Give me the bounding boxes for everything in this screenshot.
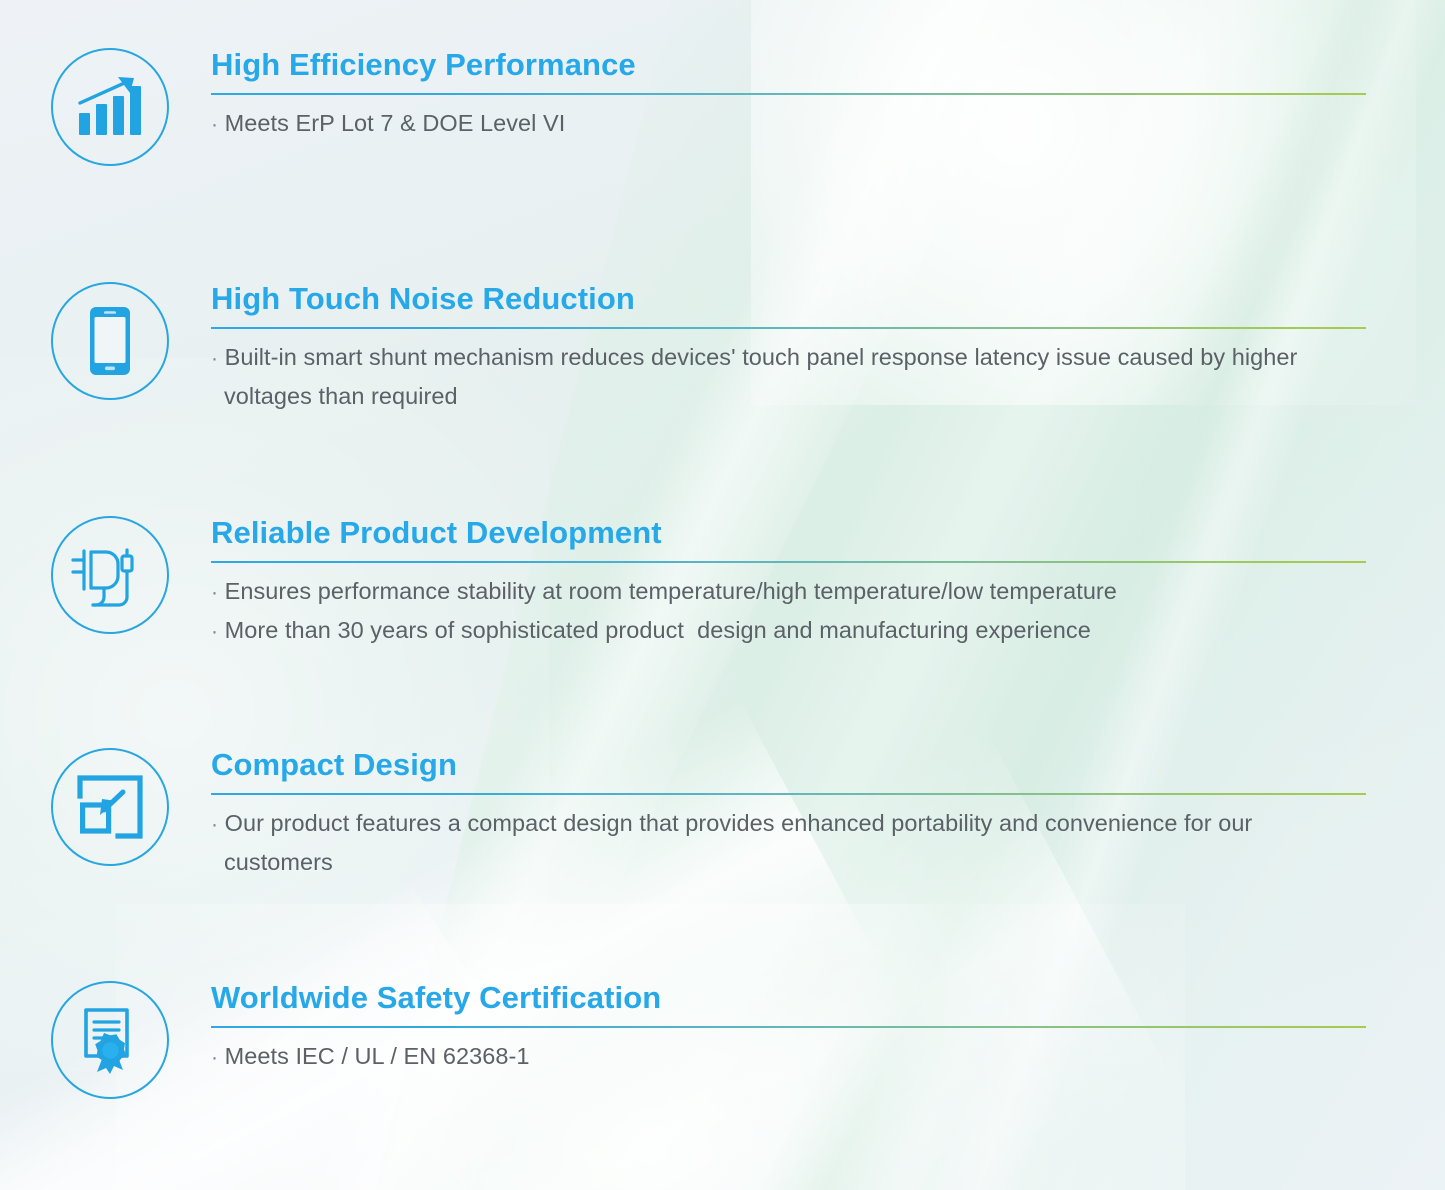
bullet-text: Built-in smart shunt mechanism reduces d… <box>224 344 1304 408</box>
feature-list: High Efficiency Performance · Meets ErP … <box>0 0 1445 1190</box>
feature-text-container: Reliable Product Development · Ensures p… <box>211 516 1445 649</box>
feature-bullet-item: · Our product features a compact design … <box>211 804 1366 881</box>
feature-divider <box>211 561 1366 564</box>
feature-icon-container <box>0 516 211 634</box>
feature-text-container: Compact Design · Our product features a … <box>211 748 1445 881</box>
feature-block-worldwide-safety-certification: Worldwide Safety Certification · Meets I… <box>0 981 1445 1099</box>
feature-bullets: · Our product features a compact design … <box>211 804 1366 881</box>
feature-title: Compact Design <box>211 748 1366 783</box>
feature-bullet-item: · More than 30 years of sophisticated pr… <box>211 611 1366 649</box>
power-adapter-icon <box>51 516 169 634</box>
feature-bullet-item: · Meets ErP Lot 7 & DOE Level VI <box>211 104 1366 142</box>
smartphone-icon <box>51 282 169 400</box>
bullet-text: Ensures performance stability at room te… <box>225 578 1117 604</box>
bullet-marker-icon: · <box>211 813 218 836</box>
certificate-award-icon <box>51 981 169 1099</box>
feature-icon-container <box>0 48 211 166</box>
bullet-marker-icon: · <box>211 113 218 136</box>
feature-text-container: High Efficiency Performance · Meets ErP … <box>211 48 1445 143</box>
feature-bullet-item: · Built-in smart shunt mechanism reduces… <box>211 338 1366 415</box>
bullet-marker-icon: · <box>211 581 218 604</box>
feature-text-container: High Touch Noise Reduction · Built-in sm… <box>211 282 1445 415</box>
bullet-marker-icon: · <box>211 620 218 643</box>
bullet-text: Our product features a compact design th… <box>224 810 1259 874</box>
feature-icon-container <box>0 748 211 866</box>
feature-divider <box>211 1026 1366 1029</box>
feature-block-reliable-product-development: Reliable Product Development · Ensures p… <box>0 516 1445 649</box>
feature-bullets: · Meets IEC / UL / EN 62368-1 <box>211 1037 1366 1075</box>
feature-divider <box>211 793 1366 796</box>
compact-resize-icon <box>51 748 169 866</box>
feature-title: Worldwide Safety Certification <box>211 981 1366 1016</box>
feature-text-container: Worldwide Safety Certification · Meets I… <box>211 981 1445 1076</box>
bullet-marker-icon: · <box>211 347 218 370</box>
feature-bullet-item: · Ensures performance stability at room … <box>211 572 1366 610</box>
bullet-text: Meets IEC / UL / EN 62368-1 <box>225 1043 530 1069</box>
feature-bullet-item: · Meets IEC / UL / EN 62368-1 <box>211 1037 1366 1075</box>
feature-block-high-touch-noise-reduction: High Touch Noise Reduction · Built-in sm… <box>0 282 1445 415</box>
feature-block-high-efficiency-performance: High Efficiency Performance · Meets ErP … <box>0 48 1445 166</box>
feature-title: High Touch Noise Reduction <box>211 282 1366 317</box>
feature-divider <box>211 327 1366 330</box>
bar-chart-growth-icon <box>51 48 169 166</box>
feature-bullets: · Ensures performance stability at room … <box>211 572 1366 649</box>
bullet-marker-icon: · <box>211 1046 218 1069</box>
feature-bullets: · Meets ErP Lot 7 & DOE Level VI <box>211 104 1366 142</box>
feature-icon-container <box>0 282 211 400</box>
bullet-text: More than 30 years of sophisticated prod… <box>225 617 1091 643</box>
feature-title: High Efficiency Performance <box>211 48 1366 83</box>
feature-title: Reliable Product Development <box>211 516 1366 551</box>
feature-divider <box>211 93 1366 96</box>
feature-block-compact-design: Compact Design · Our product features a … <box>0 748 1445 881</box>
bullet-text: Meets ErP Lot 7 & DOE Level VI <box>225 110 566 136</box>
feature-bullets: · Built-in smart shunt mechanism reduces… <box>211 338 1366 415</box>
feature-icon-container <box>0 981 211 1099</box>
